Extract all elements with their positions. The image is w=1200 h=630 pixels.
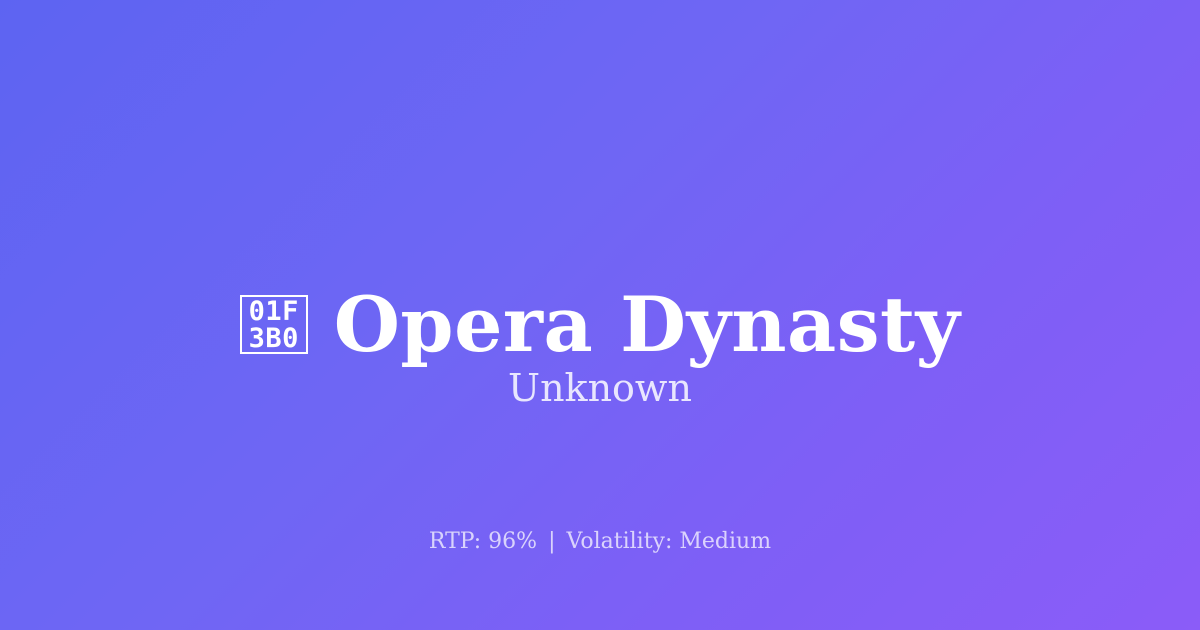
volatility-value: Volatility: Medium [567,529,772,554]
rtp-value: RTP: 96% [429,529,537,554]
game-preview-card: 01F 3B0 Opera Dynasty Unknown RTP: 96% |… [0,0,1200,630]
provider-label: Unknown [0,365,1200,411]
slot-machine-icon-codepoint-low: 3B0 [249,325,299,352]
slot-machine-icon-codepoint-high: 01F [249,298,299,325]
slot-machine-icon: 01F 3B0 [240,295,308,354]
page-title: Opera Dynasty [334,283,961,367]
stats-separator: | [544,529,559,554]
stats-line: RTP: 96% | Volatility: Medium [0,528,1200,556]
